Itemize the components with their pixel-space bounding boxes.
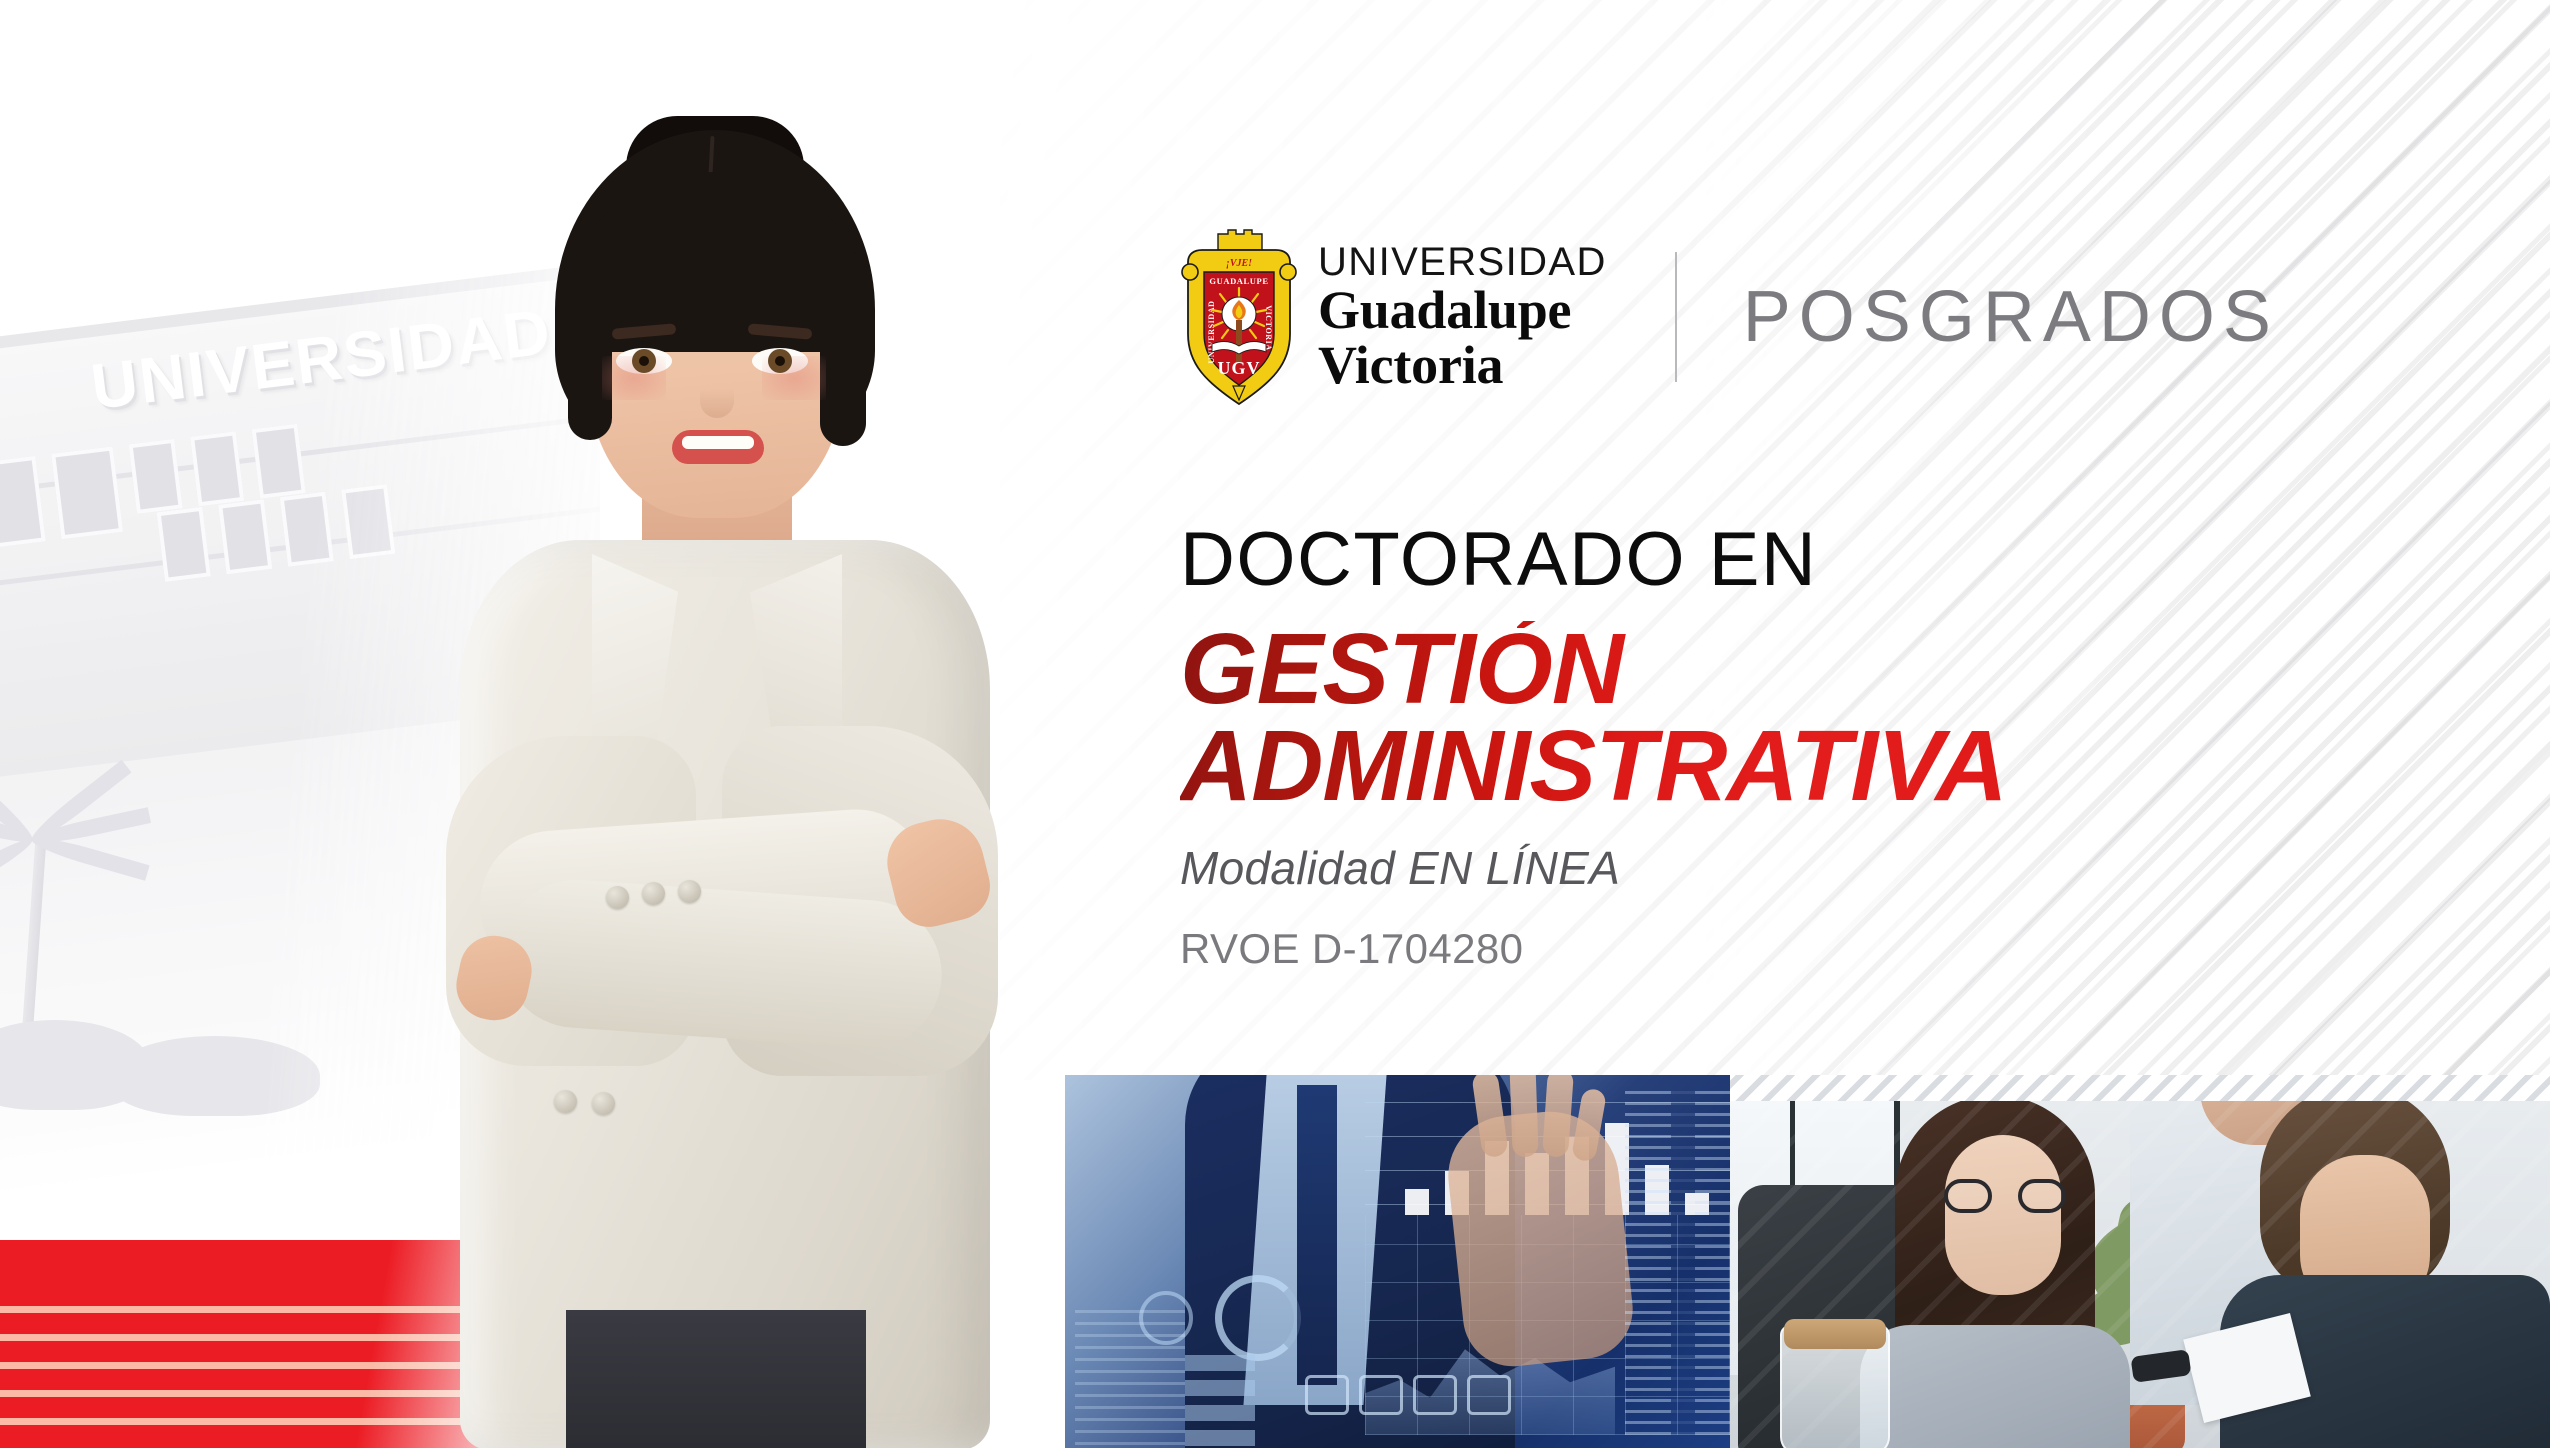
business-analytics-dashboard-photo — [1065, 1075, 1745, 1448]
sleeve-button — [678, 880, 701, 903]
building-window — [280, 492, 334, 567]
sleeve-button — [642, 882, 665, 905]
sleeve-button — [592, 1092, 615, 1115]
office-team-meeting-photo — [1730, 1075, 2550, 1448]
pupil-right — [775, 356, 785, 366]
program-title-line-2: ADMINISTRATIVA — [1180, 718, 2007, 815]
seated-woman-body — [1860, 1325, 2130, 1448]
touching-hand — [1442, 1105, 1637, 1371]
brand-line-victoria: Victoria — [1318, 338, 1607, 393]
forearm-lower — [497, 875, 946, 1053]
building-window — [51, 446, 123, 539]
circular-gauge-icon — [1215, 1275, 1301, 1361]
photo-top-diagonal-edge — [1730, 1075, 2550, 1101]
ui-tile-row — [1305, 1375, 1511, 1415]
ui-tile — [1359, 1375, 1403, 1415]
data-chip-list — [1185, 1355, 1255, 1446]
necktie — [1297, 1085, 1337, 1385]
brand-wordmark: UNIVERSIDAD Guadalupe Victoria — [1318, 241, 1607, 393]
shrub — [110, 1036, 320, 1116]
svg-text:UGV: UGV — [1218, 358, 1261, 378]
headline-eyebrow: DOCTORADO EN — [1180, 520, 2500, 599]
vertical-divider-icon — [1675, 252, 1677, 382]
finger — [1509, 1075, 1538, 1157]
program-title: GESTIÓN ADMINISTRATIVA — [1180, 621, 2007, 815]
ugv-shield-crest-icon: ¡VJE! GUADALUPE UNIVERSIDAD VICTORIA — [1178, 228, 1300, 406]
program-accreditation: RVOE D-1704280 — [1180, 925, 2500, 973]
program-modality: Modalidad EN LÍNEA — [1180, 841, 2500, 895]
hair-side-right — [820, 250, 866, 446]
building-window — [0, 456, 46, 549]
lens-right — [2018, 1179, 2066, 1213]
chart-bar — [1405, 1189, 1429, 1215]
building-window — [218, 499, 272, 574]
svg-text:GUADALUPE: GUADALUPE — [1209, 276, 1268, 286]
data-chip — [1185, 1355, 1255, 1371]
sleeve-button — [606, 886, 629, 909]
ui-tile — [1305, 1375, 1349, 1415]
ui-tile — [1413, 1375, 1457, 1415]
section-label-posgrados: POSGRADOS — [1743, 281, 2279, 353]
svg-text:¡VJE!: ¡VJE! — [1226, 258, 1252, 269]
brand-line-guadalupe: Guadalupe — [1318, 283, 1607, 338]
pupil-left — [639, 356, 649, 366]
ui-tile — [1467, 1375, 1511, 1415]
building-window — [157, 507, 211, 582]
carafe-lid — [1784, 1319, 1886, 1349]
building-window — [129, 439, 183, 514]
teeth — [682, 436, 754, 449]
data-chip — [1185, 1380, 1255, 1396]
eyeglasses-icon — [1944, 1179, 2066, 1213]
lens-left — [1944, 1179, 1992, 1213]
data-chip — [1185, 1405, 1255, 1421]
brand-header: ¡VJE! GUADALUPE UNIVERSIDAD VICTORIA — [1178, 228, 2279, 406]
sleeve-button — [554, 1090, 577, 1113]
program-title-line-1: GESTIÓN — [1180, 613, 1623, 725]
data-chip — [1185, 1430, 1255, 1446]
brand-line-universidad: UNIVERSIDAD — [1318, 240, 1607, 284]
promotional-banner: UNIVERSIDAD — [0, 0, 2550, 1448]
data-readout-text — [1625, 1085, 1741, 1435]
data-readout-text — [1075, 1305, 1185, 1445]
seated-woman-face — [1945, 1135, 2061, 1295]
hair-side-left — [568, 250, 612, 440]
nose — [700, 368, 734, 418]
skirt — [566, 1310, 866, 1448]
building-window — [252, 424, 306, 499]
building-window — [190, 431, 244, 506]
female-professional-portrait — [330, 130, 1090, 1448]
program-headline: DOCTORADO EN GESTIÓN ADMINISTRATIVA Moda… — [1180, 520, 2500, 973]
